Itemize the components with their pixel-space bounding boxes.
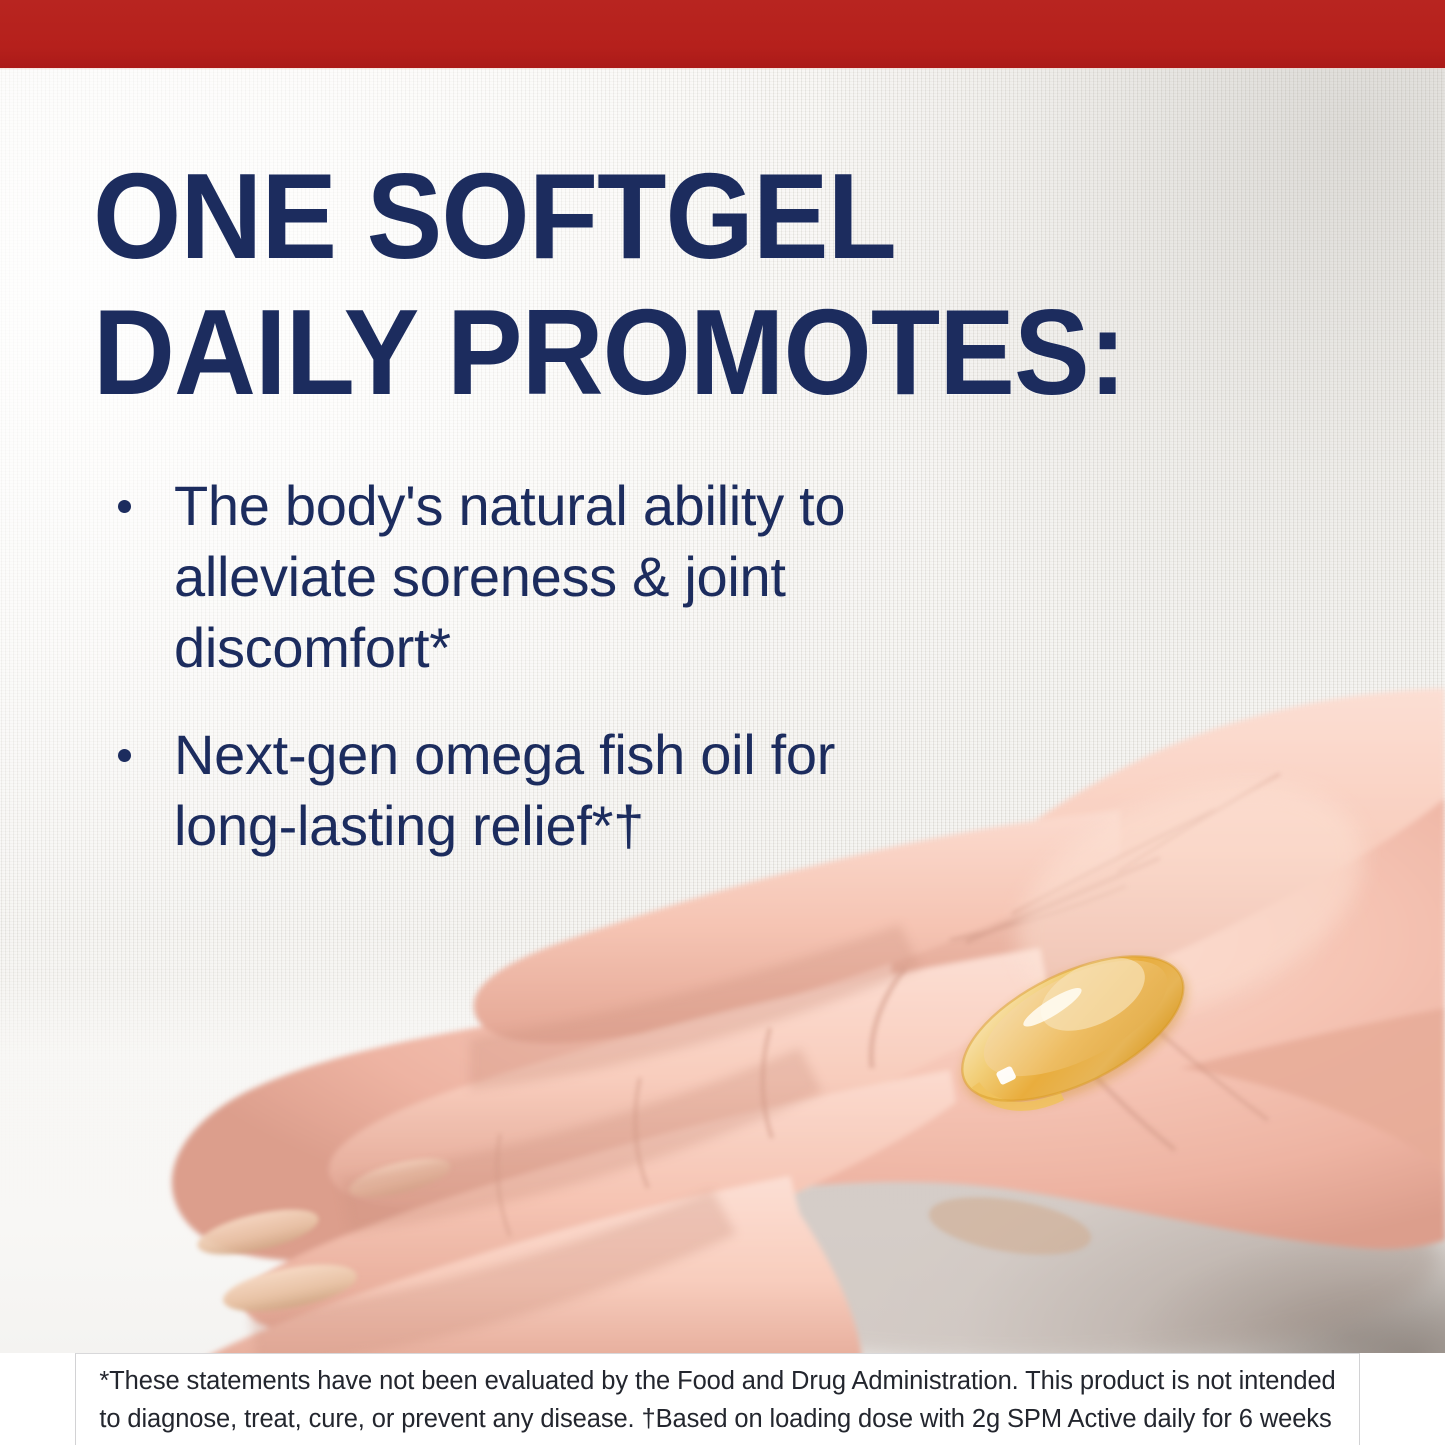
- list-item: The body's natural ability to alleviate …: [118, 470, 948, 683]
- benefit-text: Next-gen omega fish oil for long-lasting…: [174, 719, 835, 861]
- product-infographic-page: ONE SOFTGEL DAILY PROMOTES: The body's n…: [0, 0, 1445, 1445]
- disclaimer-text: *These statements have not been evaluate…: [85, 1362, 1349, 1438]
- benefits-list: The body's natural ability to alleviate …: [118, 470, 948, 897]
- benefit-text: The body's natural ability to alleviate …: [174, 470, 845, 683]
- list-item: Next-gen omega fish oil for long-lasting…: [118, 719, 948, 861]
- top-red-accent-bar: [0, 0, 1445, 68]
- bullet-dot-icon: [118, 749, 131, 762]
- disclaimer-box: *These statements have not been evaluate…: [75, 1353, 1360, 1445]
- bullet-dot-icon: [118, 500, 131, 513]
- page-headline: ONE SOFTGEL DAILY PROMOTES:: [93, 148, 1126, 420]
